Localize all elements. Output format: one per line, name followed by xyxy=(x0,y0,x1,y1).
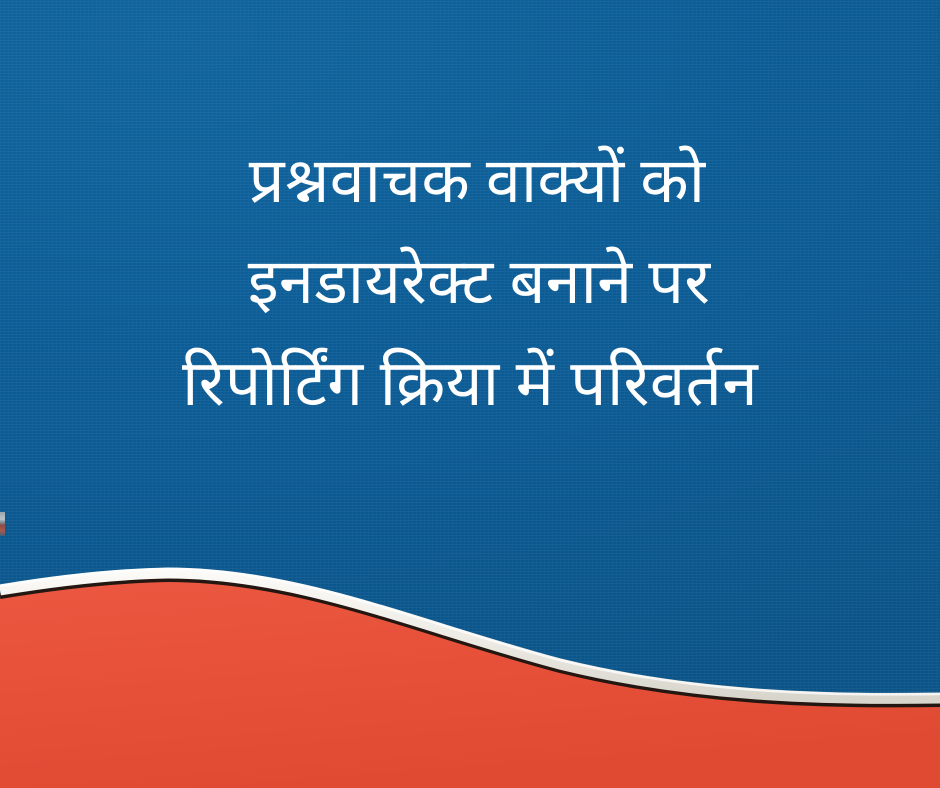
headline-line-2: इनडायरेक्ट बनाने पर xyxy=(18,251,940,314)
wall-red-surface xyxy=(0,581,940,788)
title-card: प्रश्नवाचक वाक्यों को इनडायरेक्ट बनाने प… xyxy=(0,0,940,788)
headline-line-3: रिपोर्टिंग क्रिया में परिवर्तन xyxy=(0,352,940,416)
headline-block: प्रश्नवाचक वाक्यों को इनडायरेक्ट बनाने प… xyxy=(0,150,940,416)
headline-line-1: प्रश्नवाचक वाक्यों को xyxy=(14,150,940,213)
